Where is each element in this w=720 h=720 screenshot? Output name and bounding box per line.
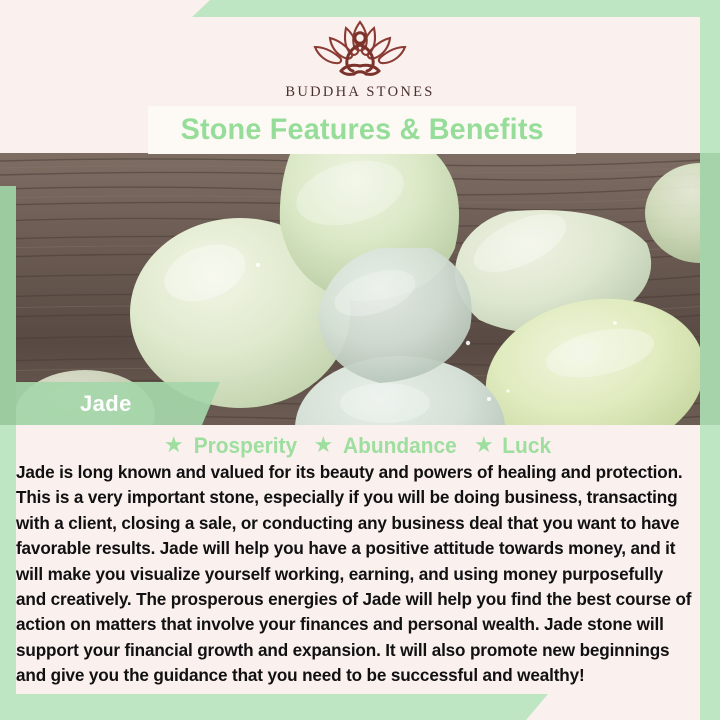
stone-description: Jade is long known and valued for its be… [16,460,694,689]
star-icon: ★ [164,434,184,456]
title-band: Stone Features & Benefits [148,106,576,154]
benefits-row: ★ Prosperity ★ Abundance ★ Luck [16,430,700,462]
infographic-page: BUDDHA STONES Stone Features & Benefits [0,0,720,720]
benefit-label: Abundance [343,433,457,459]
benefit-label: Luck [502,433,551,459]
benefit-item-abundance: ★ Abundance [313,433,460,459]
benefit-item-luck: ★ Luck [474,433,552,459]
brand-name: BUDDHA STONES [285,84,434,101]
star-icon: ★ [474,434,494,456]
brand-logo: BUDDHA STONES [0,14,720,114]
left-green-photo-overlay [0,186,16,425]
stone-name-label: Jade [80,391,132,417]
page-title: Stone Features & Benefits [180,113,543,147]
star-icon: ★ [313,434,333,456]
stone-name-banner: Jade [16,382,220,425]
benefit-label: Prosperity [193,433,296,459]
bottom-green-accent-band [0,694,548,720]
benefit-item-prosperity: ★ Prosperity [164,433,300,459]
lotus-meditation-icon [297,14,423,82]
right-green-photo-overlay [700,153,720,425]
